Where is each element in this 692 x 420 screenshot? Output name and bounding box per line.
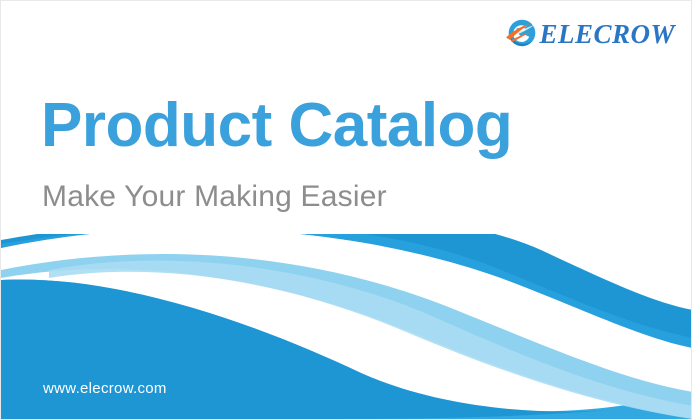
website-url[interactable]: www.elecrow.com (43, 380, 167, 397)
catalog-cover-page: ELECROW Product Catalog Make Your Making… (0, 0, 692, 420)
page-subtitle: Make Your Making Easier (42, 179, 387, 215)
brand-logo: ELECROW (503, 13, 675, 53)
brand-wordmark: ELECROW (539, 21, 675, 48)
page-title: Product Catalog (41, 93, 512, 158)
elecrow-globe-e-logo-icon (503, 14, 541, 52)
